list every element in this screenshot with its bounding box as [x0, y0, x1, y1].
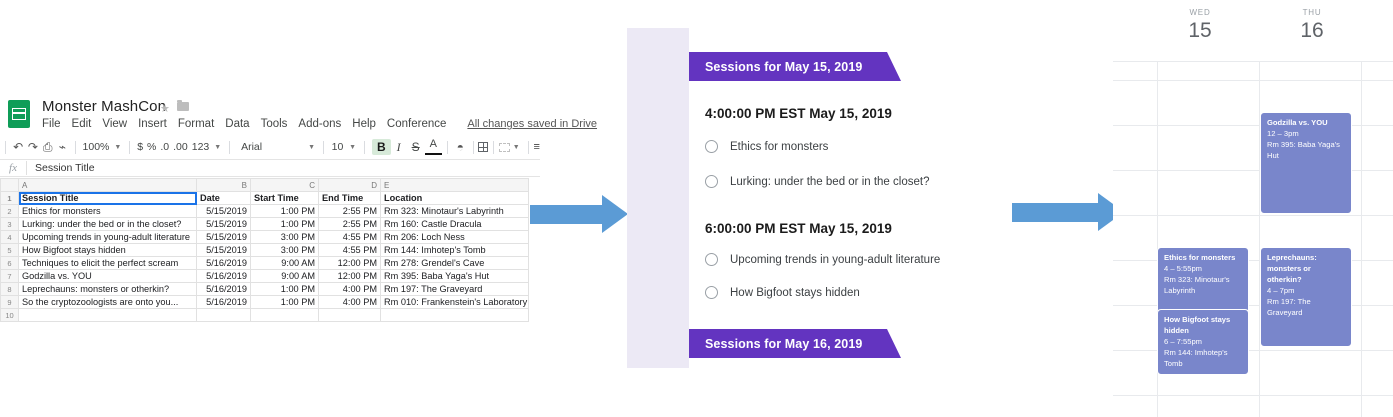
cell-e3[interactable]: Rm 160: Castle Dracula [381, 218, 529, 231]
menu-item-addons[interactable]: Add-ons [298, 118, 341, 130]
table-row: 6 Techniques to elicit the perfect screa… [1, 257, 529, 270]
event-location: Rm 197: The Graveyard [1267, 296, 1346, 318]
more-formats-button[interactable]: 123 [190, 141, 212, 153]
event-time: 12 – 3pm [1267, 128, 1346, 139]
section-banner-may-16: Sessions for May 16, 2019 [689, 329, 887, 358]
cell-e2[interactable]: Rm 323: Minotaur's Labyrinth [381, 205, 529, 218]
column-header-row: A B C D E [1, 179, 529, 192]
menu-item-help[interactable]: Help [352, 118, 376, 130]
cell-c6[interactable]: 9:00 AM [251, 257, 319, 270]
calendar-time-grid[interactable]: Godzilla vs. YOU 12 – 3pm Rm 395: Baba Y… [1113, 62, 1393, 417]
menu-item-insert[interactable]: Insert [138, 118, 167, 130]
row-header-3[interactable]: 3 [1, 218, 19, 231]
event-title: How Bigfoot stays hidden [1164, 314, 1243, 336]
calendar-day-wed[interactable]: WED 15 [1145, 8, 1255, 43]
column-header-e[interactable]: E [381, 179, 529, 192]
column-header-a[interactable]: A [19, 179, 197, 192]
decrease-decimal-button[interactable]: .0 [158, 141, 171, 153]
toolbar-divider [473, 141, 474, 154]
cell-a2[interactable]: Ethics for monsters [19, 205, 197, 218]
sheets-titlebar: Monster MashCon ★ File Edit View Insert … [0, 90, 540, 136]
horizontal-align-icon[interactable]: ≡ [534, 141, 540, 153]
cell-a4[interactable]: Upcoming trends in young-adult literatur… [19, 231, 197, 244]
document-title[interactable]: Monster MashCon [42, 98, 166, 115]
menu-item-conference[interactable]: Conference [387, 118, 446, 130]
menu-bar: File Edit View Insert Format Data Tools … [42, 118, 597, 130]
cell-b1[interactable]: Date [197, 192, 251, 205]
row-header-5[interactable]: 5 [1, 244, 19, 257]
print-icon[interactable]: ⎙ [40, 141, 55, 153]
currency-format-button[interactable]: $ [135, 141, 145, 153]
star-icon[interactable]: ★ [160, 102, 170, 115]
toolbar-divider [493, 141, 494, 154]
cell-a6[interactable]: Techniques to elicit the perfect scream [19, 257, 197, 270]
toolbar-divider [447, 141, 448, 154]
cell-e10[interactable] [381, 309, 529, 322]
grid-hour-line [1113, 80, 1393, 81]
folder-icon[interactable] [177, 102, 189, 111]
cell-a10[interactable] [19, 309, 197, 322]
time-slot-heading-4pm: 4:00:00 PM EST May 15, 2019 [705, 106, 892, 121]
event-title: Leprechauns: monsters or otherkin? [1267, 252, 1346, 285]
event-location: Rm 395: Baba Yaga's Hut [1267, 139, 1346, 161]
cell-b7[interactable]: 5/16/2019 [197, 270, 251, 283]
cell-e6[interactable]: Rm 278: Grendel's Cave [381, 257, 529, 270]
radio-option-ethics[interactable]: Ethics for monsters [705, 140, 828, 153]
grid-hour-line [1113, 395, 1393, 396]
calendar-day-header: WED 15 THU 16 [1113, 0, 1393, 62]
sheets-logo-icon [8, 100, 30, 128]
table-row: 4 Upcoming trends in young-adult literat… [1, 231, 529, 244]
table-row: 5 How Bigfoot stays hidden 5/15/2019 3:0… [1, 244, 529, 257]
day-number-label: 16 [1257, 19, 1367, 43]
google-form-panel: Sessions for May 15, 2019 4:00:00 PM EST… [627, 28, 967, 368]
cell-e8[interactable]: Rm 197: The Graveyard [381, 283, 529, 296]
row-header-1[interactable]: 1 [1, 192, 19, 205]
fx-icon: fx [0, 162, 26, 174]
cell-c2[interactable]: 1:00 PM [251, 205, 319, 218]
cell-d3[interactable]: 2:55 PM [319, 218, 381, 231]
event-title: Ethics for monsters [1164, 252, 1243, 263]
cell-b3[interactable]: 5/15/2019 [197, 218, 251, 231]
formula-input[interactable]: Session Title [27, 162, 95, 174]
day-of-week-label: WED [1145, 8, 1255, 17]
font-size-selector[interactable]: 10 [329, 141, 346, 153]
day-number-label: 15 [1145, 19, 1255, 43]
event-location: Rm 323: Minotaur's Labyrinth [1164, 274, 1243, 296]
table-row: 10 [1, 309, 529, 322]
text-color-button[interactable]: A [425, 139, 442, 155]
cell-a7[interactable]: Godzilla vs. YOU [19, 270, 197, 283]
cell-d9[interactable]: 4:00 PM [319, 296, 381, 309]
column-header-b[interactable]: B [197, 179, 251, 192]
time-slot-heading-6pm: 6:00:00 PM EST May 15, 2019 [705, 221, 892, 236]
cell-c7[interactable]: 9:00 AM [251, 270, 319, 283]
paint-format-icon[interactable]: ⌁ [55, 141, 70, 153]
strikethrough-button[interactable]: S [407, 140, 425, 154]
calendar-event-godzilla[interactable]: Godzilla vs. YOU 12 – 3pm Rm 395: Baba Y… [1260, 112, 1352, 214]
sheets-toolbar: ↶ ↷ ⎙ ⌁ 100% ▼ $ % .0 .00 123 ▼ Arial ▼ … [0, 135, 540, 159]
cell-d8[interactable]: 4:00 PM [319, 283, 381, 296]
day-of-week-label: THU [1257, 8, 1367, 17]
redo-icon[interactable]: ↷ [26, 141, 41, 153]
save-status-link[interactable]: All changes saved in Drive [467, 118, 597, 130]
cell-c4[interactable]: 3:00 PM [251, 231, 319, 244]
calendar-event-leprechauns[interactable]: Leprechauns: monsters or otherkin? 4 – 7… [1260, 247, 1352, 347]
cell-e4[interactable]: Rm 206: Loch Ness [381, 231, 529, 244]
cell-d4[interactable]: 4:55 PM [319, 231, 381, 244]
cell-c8[interactable]: 1:00 PM [251, 283, 319, 296]
radio-option-upcoming-trends[interactable]: Upcoming trends in young-adult literatur… [705, 253, 940, 266]
cell-e5[interactable]: Rm 144: Imhotep's Tomb [381, 244, 529, 257]
menu-item-view[interactable]: View [102, 118, 127, 130]
cell-b5[interactable]: 5/15/2019 [197, 244, 251, 257]
calendar-event-ethics[interactable]: Ethics for monsters 4 – 5:55pm Rm 323: M… [1157, 247, 1249, 313]
column-header-d[interactable]: D [319, 179, 381, 192]
radio-option-label: Lurking: under the bed or in the closet? [730, 176, 929, 188]
chevron-down-icon[interactable]: ▼ [211, 144, 224, 151]
cell-e7[interactable]: Rm 395: Baba Yaga's Hut [381, 270, 529, 283]
menu-item-format[interactable]: Format [178, 118, 214, 130]
toolbar-divider [528, 141, 529, 154]
chevron-down-icon[interactable]: ▼ [510, 144, 523, 151]
merge-cells-icon[interactable] [499, 143, 510, 152]
cell-d1[interactable]: End Time [319, 192, 381, 205]
zoom-level[interactable]: 100% [81, 141, 112, 153]
grid-hour-line [1113, 350, 1393, 351]
event-title: Godzilla vs. YOU [1267, 117, 1346, 128]
formula-bar: fx Session Title [0, 159, 540, 177]
cell-c1[interactable]: Start Time [251, 192, 319, 205]
cell-b2[interactable]: 5/15/2019 [197, 205, 251, 218]
row-header-10[interactable]: 10 [1, 309, 19, 322]
toolbar-divider [5, 141, 6, 154]
toolbar-divider [75, 141, 76, 154]
cell-d5[interactable]: 4:55 PM [319, 244, 381, 257]
arrow-head [602, 195, 628, 233]
table-row: 7 Godzilla vs. YOU 5/16/2019 9:00 AM 12:… [1, 270, 529, 283]
flow-arrow-right-icon [530, 205, 602, 224]
cell-c3[interactable]: 1:00 PM [251, 218, 319, 231]
spreadsheet-grid: A B C D E 1 Session Title Date Start Tim… [0, 178, 528, 322]
cell-a9[interactable]: So the cryptozoologists are onto you... [19, 296, 197, 309]
cell-c9[interactable]: 1:00 PM [251, 296, 319, 309]
cell-a5[interactable]: How Bigfoot stays hidden [19, 244, 197, 257]
undo-icon[interactable]: ↶ [11, 141, 26, 153]
cell-b10[interactable] [197, 309, 251, 322]
row-header-2[interactable]: 2 [1, 205, 19, 218]
event-time: 6 – 7:55pm [1164, 336, 1243, 347]
row-header-4[interactable]: 4 [1, 231, 19, 244]
cell-b6[interactable]: 5/16/2019 [197, 257, 251, 270]
row-header-7[interactable]: 7 [1, 270, 19, 283]
menu-item-data[interactable]: Data [225, 118, 249, 130]
menu-item-file[interactable]: File [42, 118, 61, 130]
grid-hour-line [1113, 215, 1393, 216]
cell-d6[interactable]: 12:00 PM [319, 257, 381, 270]
table-row: 1 Session Title Date Start Time End Time… [1, 192, 529, 205]
google-calendar-panel: WED 15 THU 16 Godzilla vs. YOU 12 – 3pm … [1113, 0, 1393, 417]
chevron-down-icon[interactable]: ▼ [346, 144, 359, 151]
toolbar-divider [129, 141, 130, 154]
radio-button-icon[interactable] [705, 253, 718, 266]
cell-d7[interactable]: 12:00 PM [319, 270, 381, 283]
table-row: 9 So the cryptozoologists are onto you..… [1, 296, 529, 309]
bold-button[interactable]: B [372, 139, 391, 155]
event-time: 4 – 5:55pm [1164, 263, 1243, 274]
cell-a8[interactable]: Leprechauns: monsters or otherkin? [19, 283, 197, 296]
calendar-day-thu[interactable]: THU 16 [1257, 8, 1367, 43]
radio-button-icon[interactable] [705, 286, 718, 299]
radio-option-label: How Bigfoot stays hidden [730, 287, 860, 299]
font-family-selector[interactable]: Arial [235, 141, 305, 153]
flow-arrow-right-icon [1012, 203, 1098, 222]
radio-button-icon[interactable] [705, 175, 718, 188]
row-header-6[interactable]: 6 [1, 257, 19, 270]
percent-format-button[interactable]: % [145, 141, 158, 153]
chevron-down-icon[interactable]: ▼ [305, 144, 318, 151]
radio-option-lurking[interactable]: Lurking: under the bed or in the closet? [705, 175, 929, 188]
chevron-down-icon[interactable]: ▼ [111, 144, 124, 151]
menu-item-tools[interactable]: Tools [261, 118, 288, 130]
radio-button-icon[interactable] [705, 140, 718, 153]
toolbar-divider [323, 141, 324, 154]
italic-button[interactable]: I [391, 140, 407, 155]
cell-c5[interactable]: 3:00 PM [251, 244, 319, 257]
toolbar-divider [229, 141, 230, 154]
radio-option-label: Ethics for monsters [730, 141, 828, 153]
event-location: Rm 144: Imhotep's Tomb [1164, 347, 1243, 369]
event-time: 4 – 7pm [1267, 285, 1346, 296]
cell-e1[interactable]: Location [381, 192, 529, 205]
increase-decimal-button[interactable]: .00 [171, 141, 190, 153]
cell-c10[interactable] [251, 309, 319, 322]
calendar-event-bigfoot[interactable]: How Bigfoot stays hidden 6 – 7:55pm Rm 1… [1157, 309, 1249, 375]
toolbar-divider [364, 141, 365, 154]
column-header-c[interactable]: C [251, 179, 319, 192]
cell-d2[interactable]: 2:55 PM [319, 205, 381, 218]
radio-option-label: Upcoming trends in young-adult literatur… [730, 254, 940, 266]
cell-a3[interactable]: Lurking: under the bed or in the closet? [19, 218, 197, 231]
google-sheets-panel: Monster MashCon ★ File Edit View Insert … [0, 90, 540, 320]
table-row: 2 Ethics for monsters 5/15/2019 1:00 PM … [1, 205, 529, 218]
section-banner-may-15: Sessions for May 15, 2019 [689, 52, 887, 81]
grid-day-divider [1361, 62, 1362, 417]
cell-b8[interactable]: 5/16/2019 [197, 283, 251, 296]
menu-item-edit[interactable]: Edit [72, 118, 92, 130]
borders-icon[interactable] [478, 142, 488, 152]
form-left-gutter [627, 28, 689, 368]
row-header-8[interactable]: 8 [1, 283, 19, 296]
cell-b9[interactable]: 5/16/2019 [197, 296, 251, 309]
cell-b4[interactable]: 5/15/2019 [197, 231, 251, 244]
fill-color-icon[interactable]: ◓ [453, 141, 468, 153]
row-header-9[interactable]: 9 [1, 296, 19, 309]
form-body: Sessions for May 15, 2019 4:00:00 PM EST… [689, 28, 967, 368]
radio-option-bigfoot[interactable]: How Bigfoot stays hidden [705, 286, 860, 299]
table-row: 3 Lurking: under the bed or in the close… [1, 218, 529, 231]
cell-d10[interactable] [319, 309, 381, 322]
table-row: 8 Leprechauns: monsters or otherkin? 5/1… [1, 283, 529, 296]
corner-select-all[interactable] [1, 179, 19, 192]
cell-e9[interactable]: Rm 010: Frankenstein's Laboratory [381, 296, 529, 309]
cell-a1[interactable]: Session Title [19, 192, 197, 205]
